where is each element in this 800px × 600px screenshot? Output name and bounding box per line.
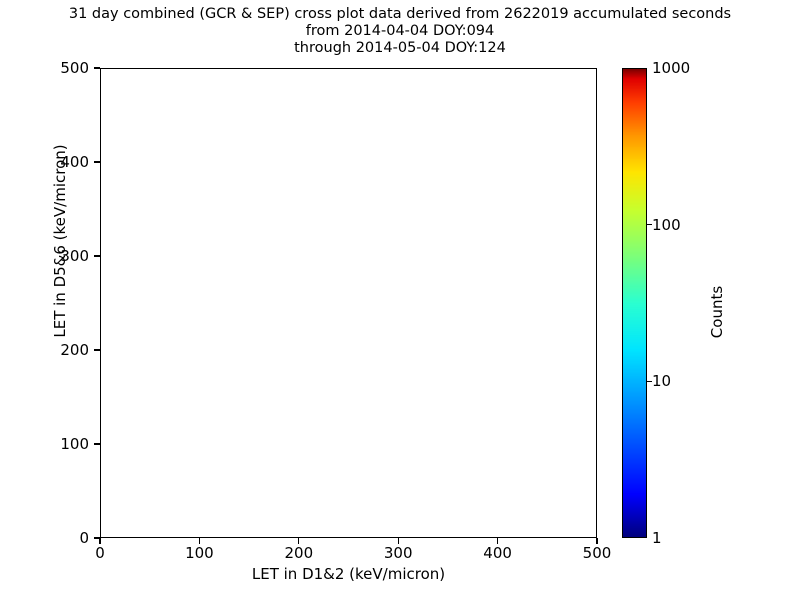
x-tick-label: 200 (284, 544, 313, 562)
colorbar-tick-label: 1 (652, 529, 662, 547)
title-line-3: through 2014-05-04 DOY:124 (0, 40, 800, 57)
x-axis-label: LET in D1&2 (keV/micron) (100, 565, 597, 583)
y-axis-label: LET in D5&6 (keV/micron) (51, 6, 69, 476)
colorbar-label: Counts (708, 212, 726, 412)
x-tick-label: 500 (583, 544, 612, 562)
axes-frame (100, 68, 597, 538)
x-tick-label: 100 (185, 544, 214, 562)
y-tick-mark (94, 67, 100, 68)
x-tick-label: 0 (95, 544, 105, 562)
y-tick-mark (94, 443, 100, 444)
figure-canvas: 31 day combined (GCR & SEP) cross plot d… (0, 0, 800, 600)
colorbar-tick-label: 100 (652, 216, 681, 234)
colorbar-tick-label: 10 (652, 372, 671, 390)
colorbar (622, 68, 647, 538)
y-tick-mark (94, 349, 100, 350)
title-line-1: 31 day combined (GCR & SEP) cross plot d… (0, 6, 800, 23)
colorbar-gradient (623, 69, 646, 537)
y-tick-label: 0 (79, 529, 89, 547)
x-tick-label: 300 (384, 544, 413, 562)
colorbar-tick-label: 1000 (652, 59, 690, 77)
figure-title: 31 day combined (GCR & SEP) cross plot d… (0, 6, 800, 57)
y-tick-mark (94, 255, 100, 256)
x-tick-label: 400 (483, 544, 512, 562)
y-tick-mark (94, 161, 100, 162)
title-line-2: from 2014-04-04 DOY:094 (0, 23, 800, 40)
